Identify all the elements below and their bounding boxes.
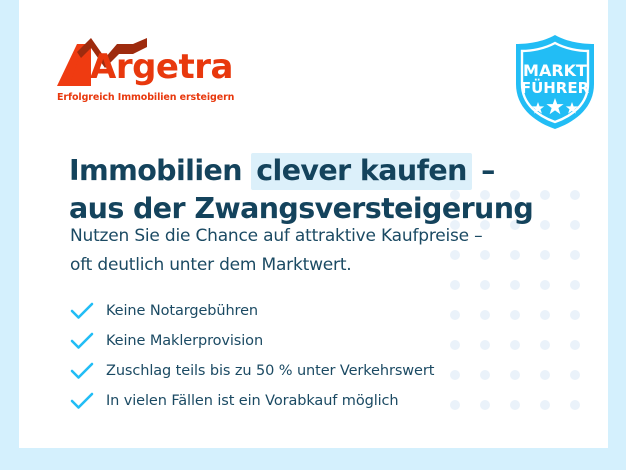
page-headline: Immobilien clever kaufen – aus der Zwang… [69, 152, 569, 228]
badge-line2: FÜHRER [521, 78, 590, 97]
dot [570, 280, 580, 290]
badge-line1: MARKT [523, 61, 587, 80]
headline-highlight: clever kaufen [251, 153, 472, 190]
benefit-list: Keine Notargebühren Keine Maklerprovisio… [70, 296, 550, 416]
check-icon [70, 391, 94, 411]
argetra-logo[interactable]: Argetra Erfolgreich Immobilien ersteiger… [55, 38, 255, 93]
market-leader-badge: MARKT FÜHRER [507, 32, 603, 132]
promo-card: Argetra Erfolgreich Immobilien ersteiger… [19, 0, 608, 448]
dot [570, 250, 580, 260]
page-frame: Argetra Erfolgreich Immobilien ersteiger… [0, 0, 626, 470]
list-item: In vielen Fällen ist ein Vorabkauf mögli… [70, 386, 550, 416]
dot [510, 280, 520, 290]
list-item-label: Keine Maklerprovision [106, 333, 263, 349]
check-icon [70, 301, 94, 321]
dot [570, 340, 580, 350]
list-item-label: Keine Notargebühren [106, 303, 258, 319]
subheadline-line1: Nutzen Sie die Chance auf attraktive Kau… [70, 222, 570, 251]
headline-part2: – [472, 154, 495, 187]
list-item-label: In vielen Fällen ist ein Vorabkauf mögli… [106, 393, 399, 409]
dot [540, 280, 550, 290]
page-subheadline: Nutzen Sie die Chance auf attraktive Kau… [70, 222, 570, 280]
logo-tagline: Erfolgreich Immobilien ersteigern [57, 92, 234, 103]
list-item: Zuschlag teils bis zu 50 % unter Verkehr… [70, 356, 550, 386]
subheadline-line2: oft deutlich unter dem Marktwert. [70, 251, 570, 280]
dot [570, 370, 580, 380]
dot [570, 220, 580, 230]
check-icon [70, 331, 94, 351]
list-item-label: Zuschlag teils bis zu 50 % unter Verkehr… [106, 363, 434, 379]
list-item: Keine Maklerprovision [70, 326, 550, 356]
logo-mark-row: Argetra [55, 38, 255, 93]
dot [570, 310, 580, 320]
dot [480, 280, 490, 290]
headline-part1: Immobilien [69, 154, 251, 187]
check-icon [70, 361, 94, 381]
dot [450, 280, 460, 290]
list-item: Keine Notargebühren [70, 296, 550, 326]
dot [570, 190, 580, 200]
dot [570, 400, 580, 410]
shield-icon: MARKT FÜHRER [507, 32, 603, 132]
logo-wordmark: Argetra [90, 50, 233, 84]
